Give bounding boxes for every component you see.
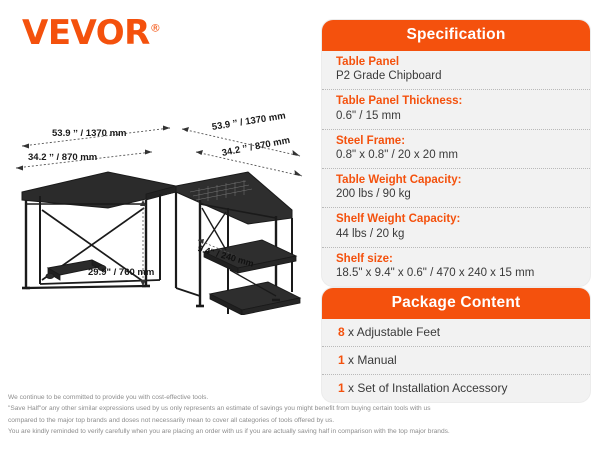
package-content-title: Package Content [322,288,590,319]
l-shaped-desk-diagram [0,100,310,315]
dimension-label-depth-left: 34.2 ˮ / 870 mm [28,152,97,163]
spec-label: Shelf size: [336,252,578,266]
spec-row: Shelf size: 18.5" x 9.4" x 0.6" / 470 x … [322,248,590,286]
spec-value: 44 lbs / 20 kg [336,227,578,242]
spec-row: Table Panel Thickness: 0.6" / 15 mm [322,90,590,129]
spec-label: Shelf Weight Capacity: [336,212,578,226]
dimension-label-width-left: 53.9 ˮ / 1370 mm [52,128,126,139]
spec-row: Shelf Weight Capacity: 44 lbs / 20 kg [322,208,590,247]
vevor-logo: VEVOR® [22,16,160,50]
package-content-card: Package Content 8 x Adjustable Feet 1 x … [322,288,590,402]
disclaimer-text: We continue to be committed to provide y… [8,392,594,437]
package-item: 1 x Manual [322,347,590,375]
spec-value: 0.8" x 0.8" / 20 x 20 mm [336,148,578,163]
package-item: 8 x Adjustable Feet [322,319,590,347]
spec-row: Table Panel P2 Grade Chipboard [322,51,590,90]
spec-label: Table Weight Capacity: [336,173,578,187]
spec-row: Steel Frame: 0.8" x 0.8" / 20 x 20 mm [322,130,590,169]
disclaimer-line-4: You are kindly reminded to verify carefu… [8,426,594,437]
package-item-qty: 1 [338,353,345,367]
spec-label: Steel Frame: [336,134,578,148]
dimension-label-height: 29.9" / 760 mm [88,267,154,278]
package-item-label: x Adjustable Feet [348,325,440,339]
product-illustration-panel: VEVOR® [0,0,310,390]
spec-row: Table Weight Capacity: 200 lbs / 90 kg [322,169,590,208]
disclaimer-line-3: compared to the major top brands and dos… [8,415,594,426]
spec-value: 0.6" / 15 mm [336,109,578,124]
disclaimer-line-2: "Save Half"or any other similar expressi… [8,403,594,414]
registered-trademark-icon: ® [150,22,161,35]
spec-label: Table Panel [336,55,578,69]
spec-value: 18.5" x 9.4" x 0.6" / 470 x 240 x 15 mm [336,266,578,281]
brand-name: VEVOR [22,13,150,53]
specification-title: Specification [322,20,590,51]
specification-rows: Table Panel P2 Grade Chipboard Table Pan… [322,51,590,286]
specification-card: Specification Table Panel P2 Grade Chipb… [322,20,590,286]
disclaimer-line-1: We continue to be committed to provide y… [8,392,594,403]
package-item-qty: 8 [338,325,345,339]
spec-value: 200 lbs / 90 kg [336,187,578,202]
spec-label: Table Panel Thickness: [336,94,578,108]
package-item-label: x Manual [348,353,397,367]
spec-value: P2 Grade Chipboard [336,69,578,84]
package-content-rows: 8 x Adjustable Feet 1 x Manual 1 x Set o… [322,319,590,402]
